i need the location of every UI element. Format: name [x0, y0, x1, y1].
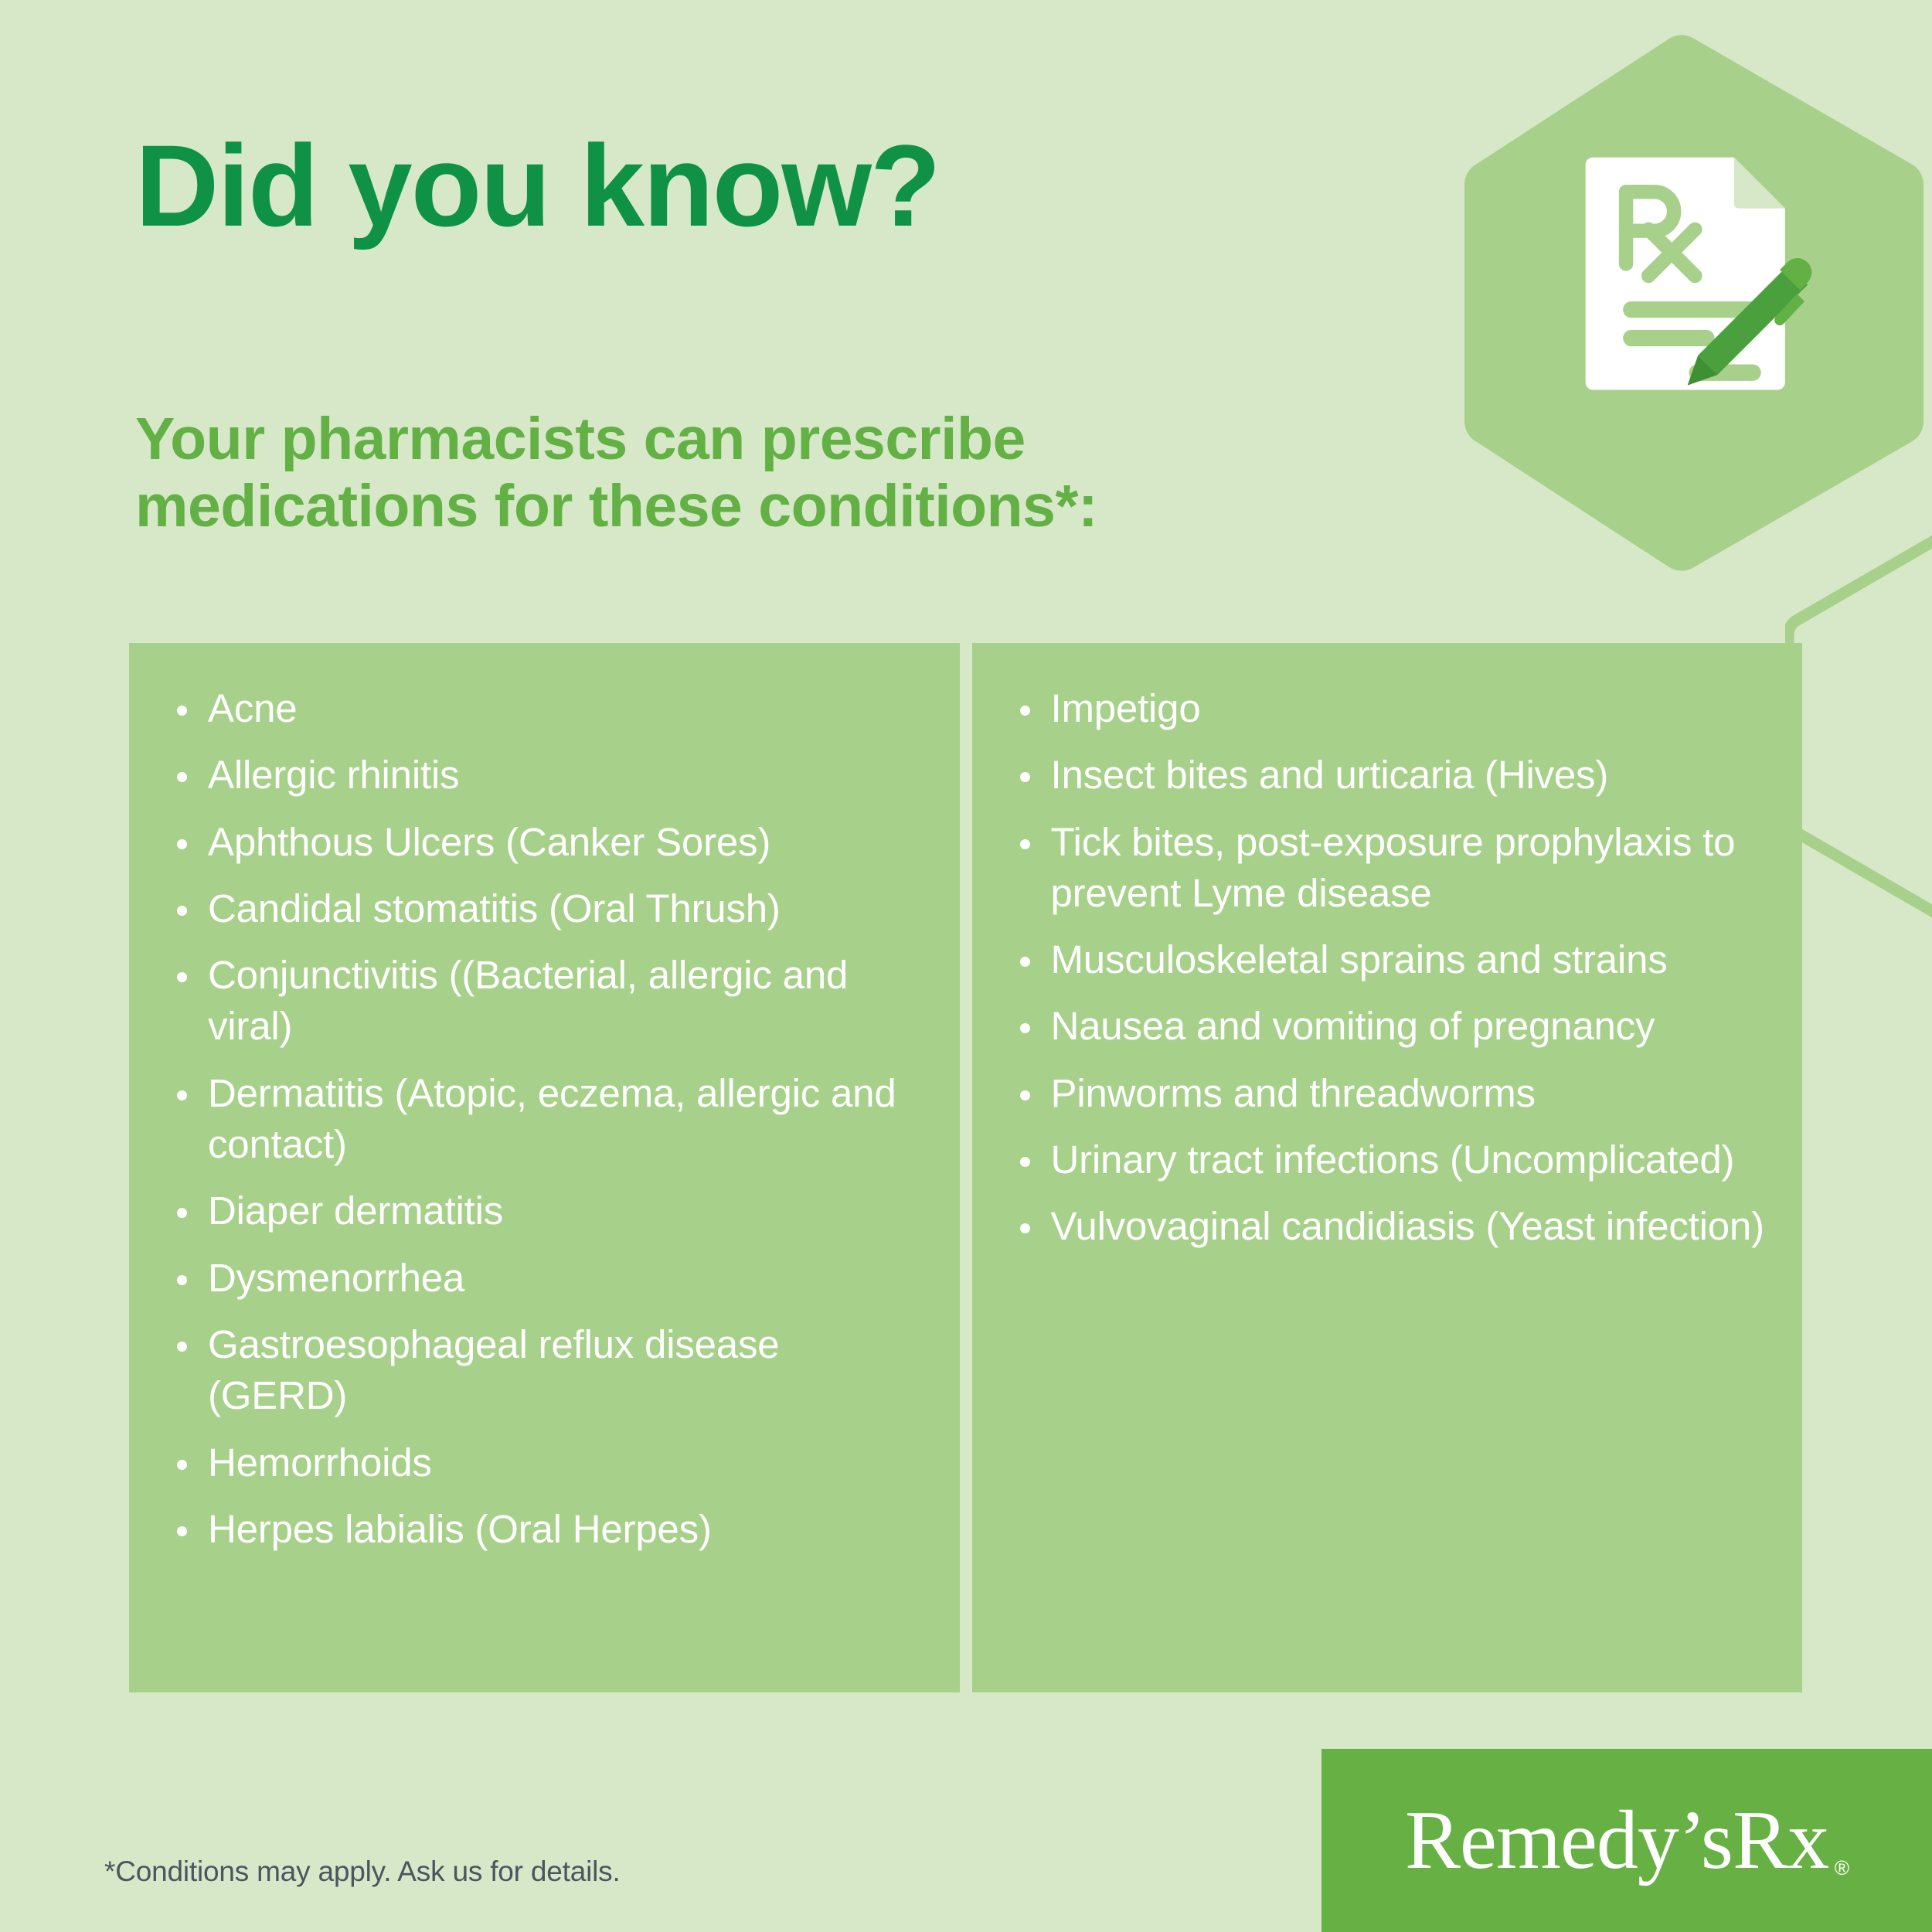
subtitle-line-2: medications for these conditions*:: [135, 473, 1256, 540]
hexagon-outline-icon: [1785, 526, 1932, 927]
list-item: Urinary tract infections (Uncomplicated): [1015, 1134, 1772, 1185]
list-item: Insect bites and urticaria (Hives): [1015, 750, 1772, 801]
conditions-list-left: Acne Allergic rhinitis Aphthous Ulcers (…: [172, 683, 929, 1555]
conditions-list-right: Impetigo Insect bites and urticaria (Hiv…: [1015, 683, 1772, 1253]
conditions-cards: Acne Allergic rhinitis Aphthous Ulcers (…: [129, 643, 1802, 1692]
list-item: Hemorrhoids: [172, 1437, 929, 1488]
disclaimer-text: *Conditions may apply. Ask us for detail…: [104, 1855, 621, 1889]
poster-canvas: Did you know? Your pharmacists can presc…: [0, 0, 1932, 1932]
list-item: Candidal stomatitis (Oral Thrush): [172, 883, 929, 934]
brand-wordmark-text: Remedy’sRx: [1405, 1794, 1828, 1886]
page-title: Did you know?: [135, 128, 940, 243]
list-item: Dermatitis (Atopic, eczema, allergic and…: [172, 1068, 929, 1171]
list-item: Conjunctivitis ((Bacterial, allergic and…: [172, 950, 929, 1053]
subtitle-line-1: Your pharmacists can prescribe: [135, 406, 1256, 473]
registered-trademark-icon: ®: [1835, 1858, 1849, 1878]
conditions-card-left: Acne Allergic rhinitis Aphthous Ulcers (…: [129, 643, 960, 1692]
list-item: Dysmenorrhea: [172, 1253, 929, 1304]
list-item: Tick bites, post-exposure prophylaxis to…: [1015, 817, 1772, 920]
list-item: Aphthous Ulcers (Canker Sores): [172, 817, 929, 868]
list-item: Gastroesophageal reflux disease (GERD): [172, 1319, 929, 1422]
list-item: Allergic rhinitis: [172, 750, 929, 801]
conditions-card-right: Impetigo Insect bites and urticaria (Hiv…: [972, 643, 1803, 1692]
list-item: Diaper dermatitis: [172, 1185, 929, 1236]
brand-logo-block: Remedy’sRx ®: [1321, 1749, 1932, 1932]
list-item: Acne: [172, 683, 929, 734]
list-item: Impetigo: [1015, 683, 1772, 734]
list-item: Herpes labialis (Oral Herpes): [172, 1504, 929, 1555]
subtitle: Your pharmacists can prescribe medicatio…: [135, 406, 1256, 540]
list-item: Vulvovaginal candidiasis (Yeast infectio…: [1015, 1201, 1772, 1252]
list-item: Pinworms and threadworms: [1015, 1068, 1772, 1119]
list-item: Musculoskeletal sprains and strains: [1015, 934, 1772, 985]
brand-wordmark: Remedy’sRx ®: [1405, 1799, 1849, 1883]
list-item: Nausea and vomiting of pregnancy: [1015, 1001, 1772, 1052]
rx-document-icon: [1577, 147, 1832, 402]
